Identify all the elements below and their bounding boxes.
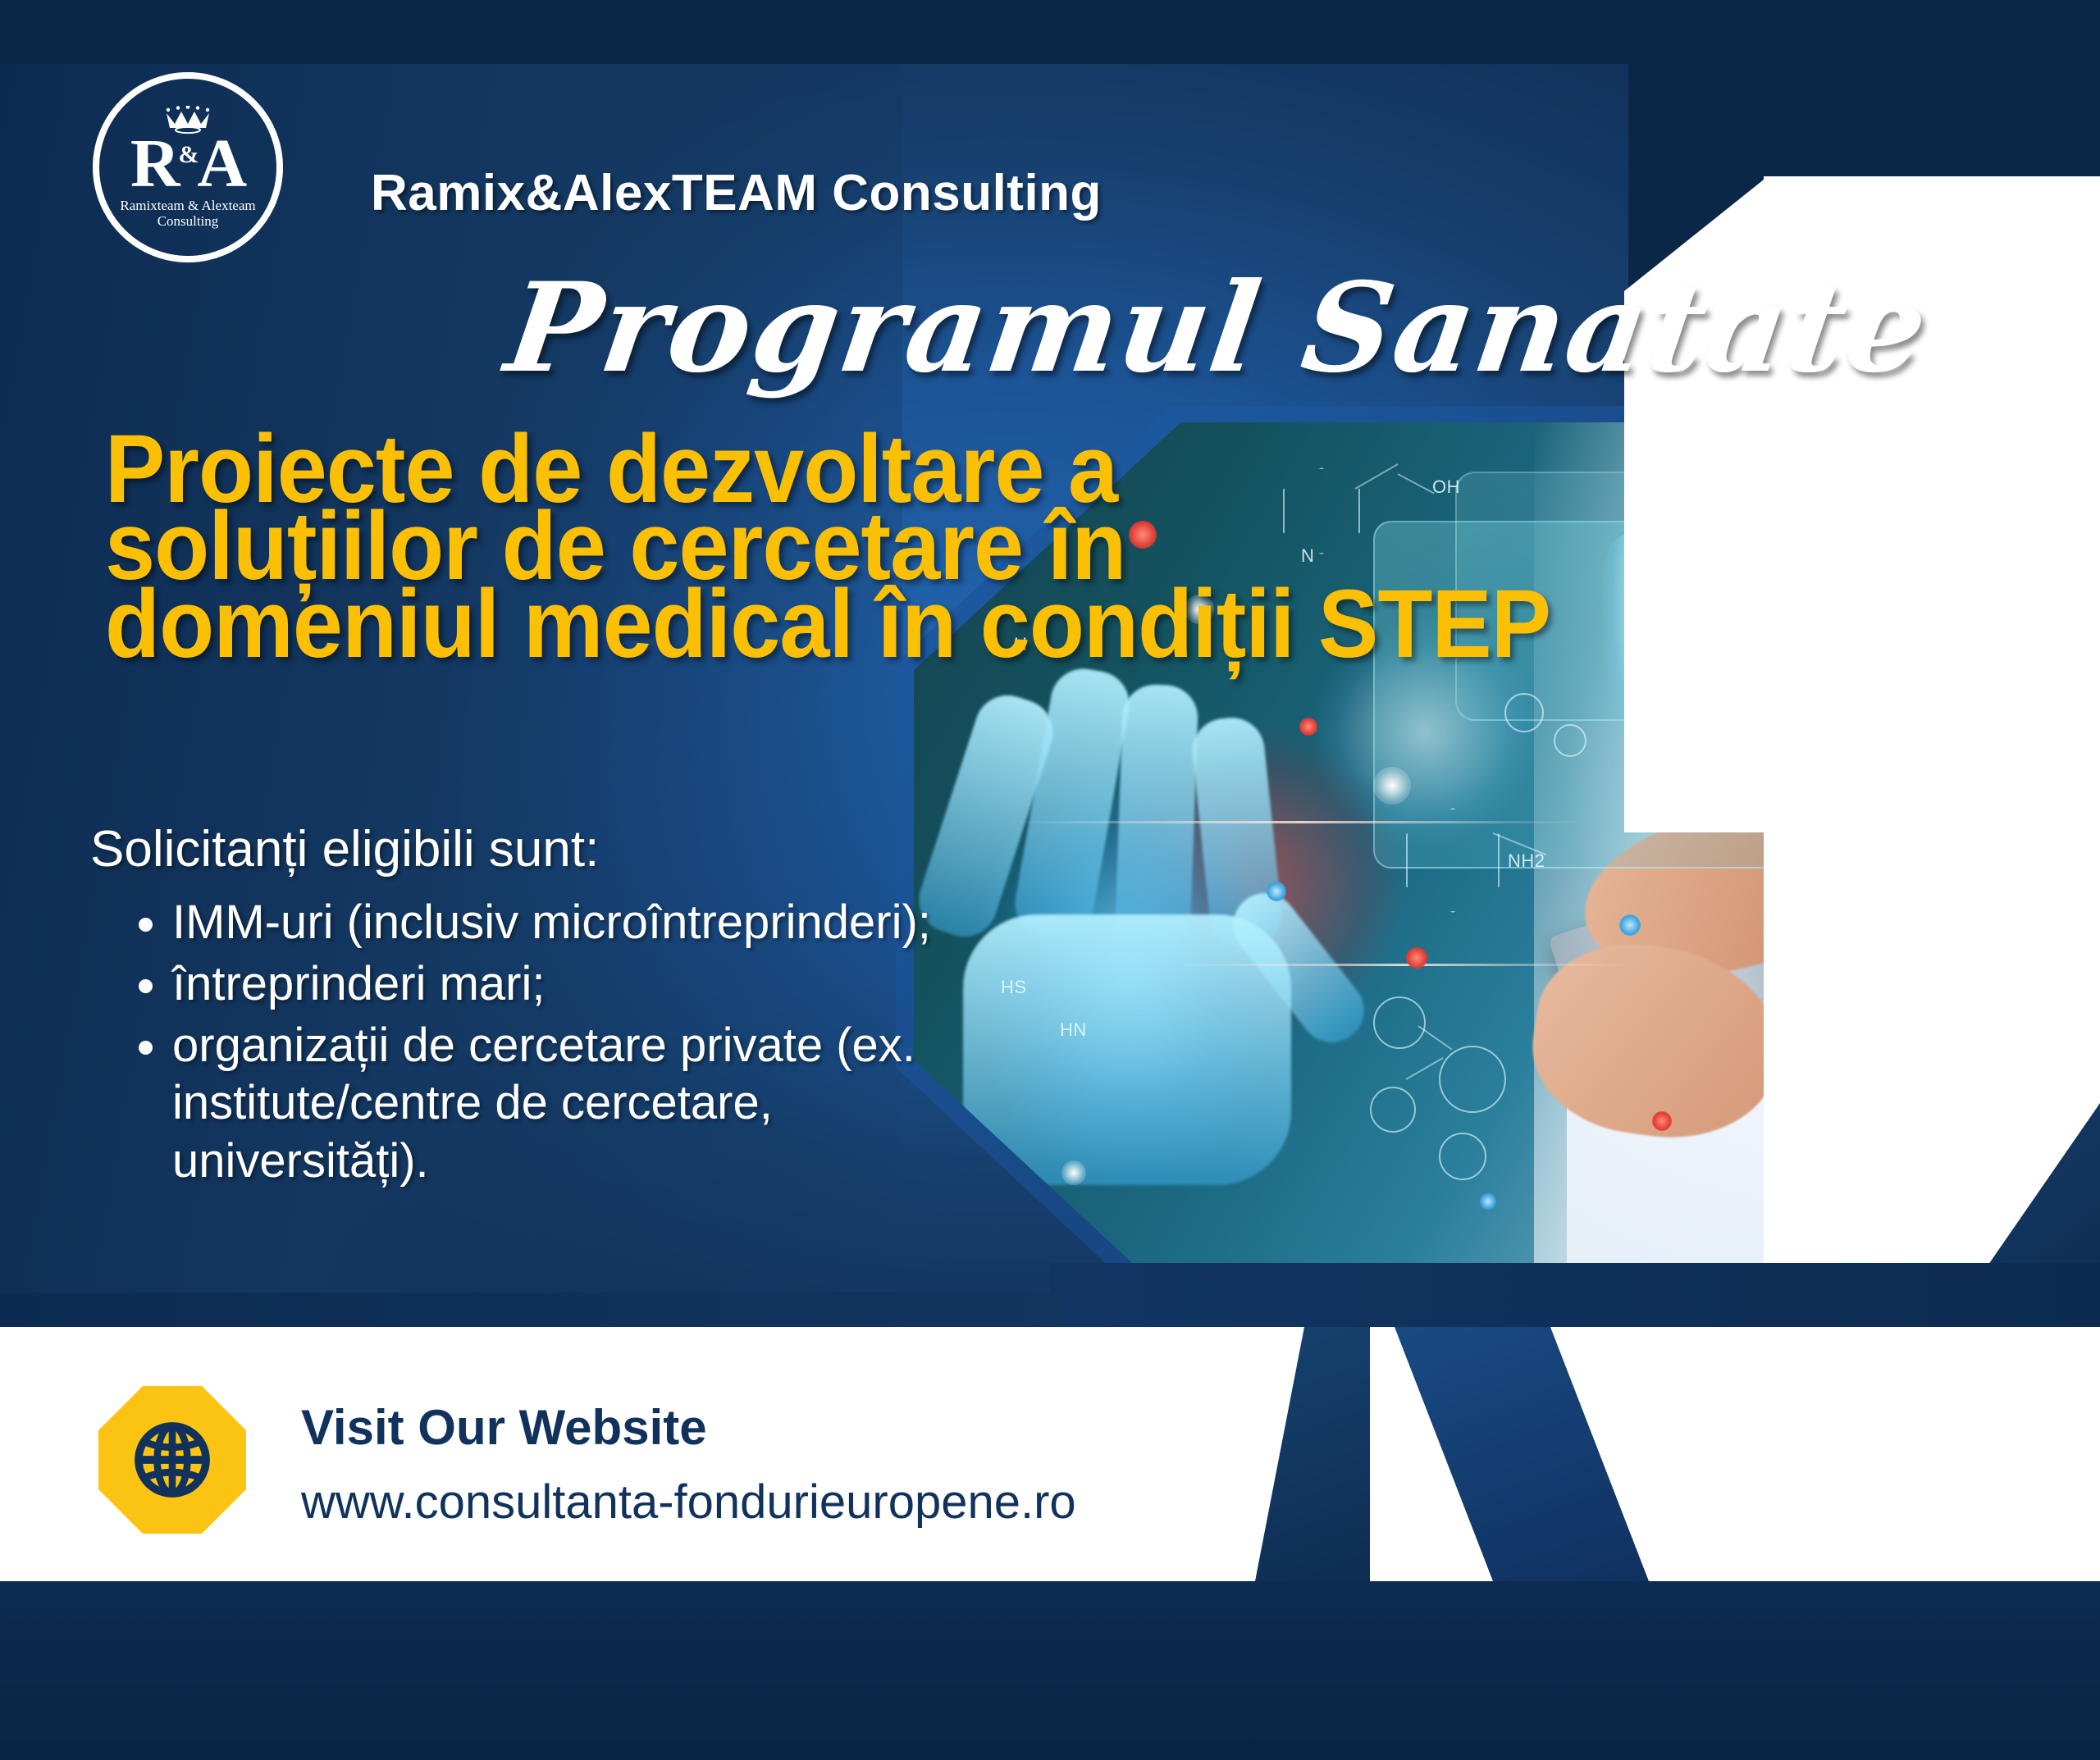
list-item: întreprinderi mari; xyxy=(172,955,1042,1014)
light-dot xyxy=(1480,1193,1496,1210)
logo-monogram-a: A xyxy=(198,125,246,202)
program-script-title: Programul Sanatate xyxy=(499,256,1938,400)
list-item: IMM-uri (inclusiv microîntreprinderi); xyxy=(172,894,1042,952)
poster-canvas: Sense Analysis OH N NH2 H HS HN xyxy=(0,0,2100,1760)
main-headline: Proiecte de dezvoltare a soluțiilor de c… xyxy=(105,431,1501,663)
lens-flare xyxy=(1176,964,1636,966)
molecule-node xyxy=(1370,1087,1416,1133)
light-dot xyxy=(1619,914,1641,936)
chem-bond xyxy=(1417,1025,1452,1050)
logo-monogram: R&A xyxy=(130,135,245,194)
eligibility-list: IMM-uri (inclusiv microîntreprinderi); î… xyxy=(123,894,1042,1194)
list-item: organizații de cercetare private (ex. in… xyxy=(172,1017,1042,1191)
logo-monogram-r: R xyxy=(130,125,179,202)
decor-band-above-footer-right xyxy=(1050,1263,2100,1329)
chem-label-hn: HN xyxy=(1060,1019,1087,1041)
light-dot xyxy=(1373,767,1411,805)
molecule-node xyxy=(1554,724,1586,757)
light-dot xyxy=(1652,1111,1672,1131)
chem-label-nh2: NH2 xyxy=(1508,850,1545,872)
light-dot xyxy=(1061,1160,1086,1185)
globe-badge[interactable] xyxy=(98,1386,246,1534)
logo-subtitle-line-1: Ramixteam & Alexteam xyxy=(120,198,255,214)
globe-icon xyxy=(128,1416,217,1504)
molecule-node xyxy=(1439,1046,1506,1113)
bottom-navy-band xyxy=(0,1581,2100,1760)
lens-flare xyxy=(1012,821,1586,823)
headline-line-3: domeniul medical în condiții STEP xyxy=(105,586,1501,663)
light-dot xyxy=(1406,947,1427,969)
top-dark-strip xyxy=(0,0,2100,64)
light-dot xyxy=(1299,718,1317,736)
logo-monogram-amp: & xyxy=(179,141,198,168)
chem-bond xyxy=(1406,1057,1444,1080)
eligibility-label: Solicitanți eligibili sunt: xyxy=(90,820,599,878)
company-name: Ramix&AlexTEAM Consulting xyxy=(371,164,1102,222)
molecule-node xyxy=(1439,1133,1486,1180)
light-dot xyxy=(1267,882,1286,901)
molecule-node xyxy=(1373,996,1426,1049)
molecule-node xyxy=(1504,693,1544,732)
decor-band-above-footer-left xyxy=(0,1293,1066,1329)
website-url[interactable]: www.consultanta-fondurieuropene.ro xyxy=(301,1475,1076,1530)
visit-website-label[interactable]: Visit Our Website xyxy=(301,1399,707,1456)
company-logo: R&A Ramixteam & Alexteam Consulting xyxy=(93,72,283,262)
logo-subtitle-line-2: Consulting xyxy=(157,214,219,229)
